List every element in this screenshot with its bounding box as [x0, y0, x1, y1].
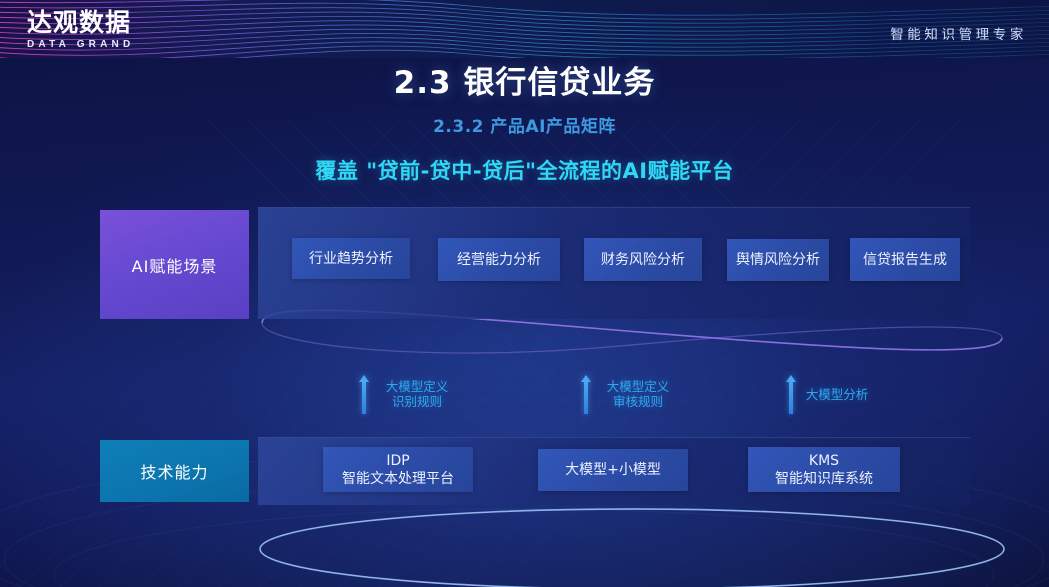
- up-arrow-icon-3: [789, 381, 793, 414]
- connector-label-2-line1: 大模型定义: [592, 379, 684, 394]
- category-ai-scenarios[interactable]: AI赋能场景: [100, 210, 249, 319]
- connector-label-2-line2: 审核规则: [592, 394, 684, 409]
- brand-logo: 达观数据 DATA GRAND: [27, 8, 134, 52]
- connector-label-1: 大模型定义 识别规则: [371, 379, 463, 409]
- scenario-pill-1-label: 行业趋势分析: [309, 250, 393, 268]
- scenario-pill-5[interactable]: 信贷报告生成: [850, 238, 960, 281]
- brand-tagline: 智能知识管理专家: [890, 23, 1027, 43]
- scenario-pill-3-label: 财务风险分析: [601, 251, 685, 269]
- tech-pill-kms-line1: KMS: [809, 452, 839, 470]
- tech-pill-idp-line2: 智能文本处理平台: [342, 470, 454, 488]
- tech-pill-kms-line2: 智能知识库系统: [775, 470, 873, 488]
- header-bar: 达观数据 DATA GRAND 智能知识管理专家 智能知识管理专家: [0, 0, 1049, 58]
- connector-label-3-line1: 大模型分析: [797, 387, 877, 402]
- tech-pill-kms[interactable]: KMS 智能知识库系统: [748, 447, 900, 492]
- slide-canvas: 达观数据 DATA GRAND 智能知识管理专家 智能知识管理专家 2.3 银行…: [0, 0, 1049, 587]
- page-lead-text: 覆盖 "贷前-贷中-贷后"全流程的AI赋能平台: [0, 155, 1049, 185]
- scenario-pill-5-label: 信贷报告生成: [863, 251, 947, 269]
- connector-label-1-line1: 大模型定义: [371, 379, 463, 394]
- up-arrow-icon-1: [362, 381, 366, 414]
- scenario-pill-1[interactable]: 行业趋势分析: [292, 238, 410, 279]
- scenario-pill-2-label: 经营能力分析: [457, 251, 541, 269]
- tech-pill-idp-line1: IDP: [386, 452, 409, 470]
- page-subtitle: 2.3.2 产品AI产品矩阵: [0, 112, 1049, 137]
- brand-logo-cn: 达观数据: [27, 8, 134, 37]
- tech-pill-idp[interactable]: IDP 智能文本处理平台: [323, 447, 473, 492]
- connector-label-1-line2: 识别规则: [371, 394, 463, 409]
- scenario-pill-4-label: 舆情风险分析: [736, 251, 820, 269]
- scenario-pill-2[interactable]: 经营能力分析: [438, 238, 560, 281]
- brand-logo-en: DATA GRAND: [27, 38, 134, 52]
- tech-pill-models[interactable]: 大模型+小模型: [538, 449, 688, 491]
- scenario-pill-4[interactable]: 舆情风险分析: [727, 239, 829, 281]
- category-tech-capability[interactable]: 技术能力: [100, 440, 249, 502]
- page-title: 2.3 银行信贷业务: [0, 57, 1049, 102]
- up-arrow-icon-2: [584, 381, 588, 414]
- connector-label-3: 大模型分析: [797, 387, 877, 402]
- tech-pill-models-line1: 大模型+小模型: [565, 461, 661, 479]
- scenario-pill-3[interactable]: 财务风险分析: [584, 238, 702, 281]
- connector-label-2: 大模型定义 审核规则: [592, 379, 684, 409]
